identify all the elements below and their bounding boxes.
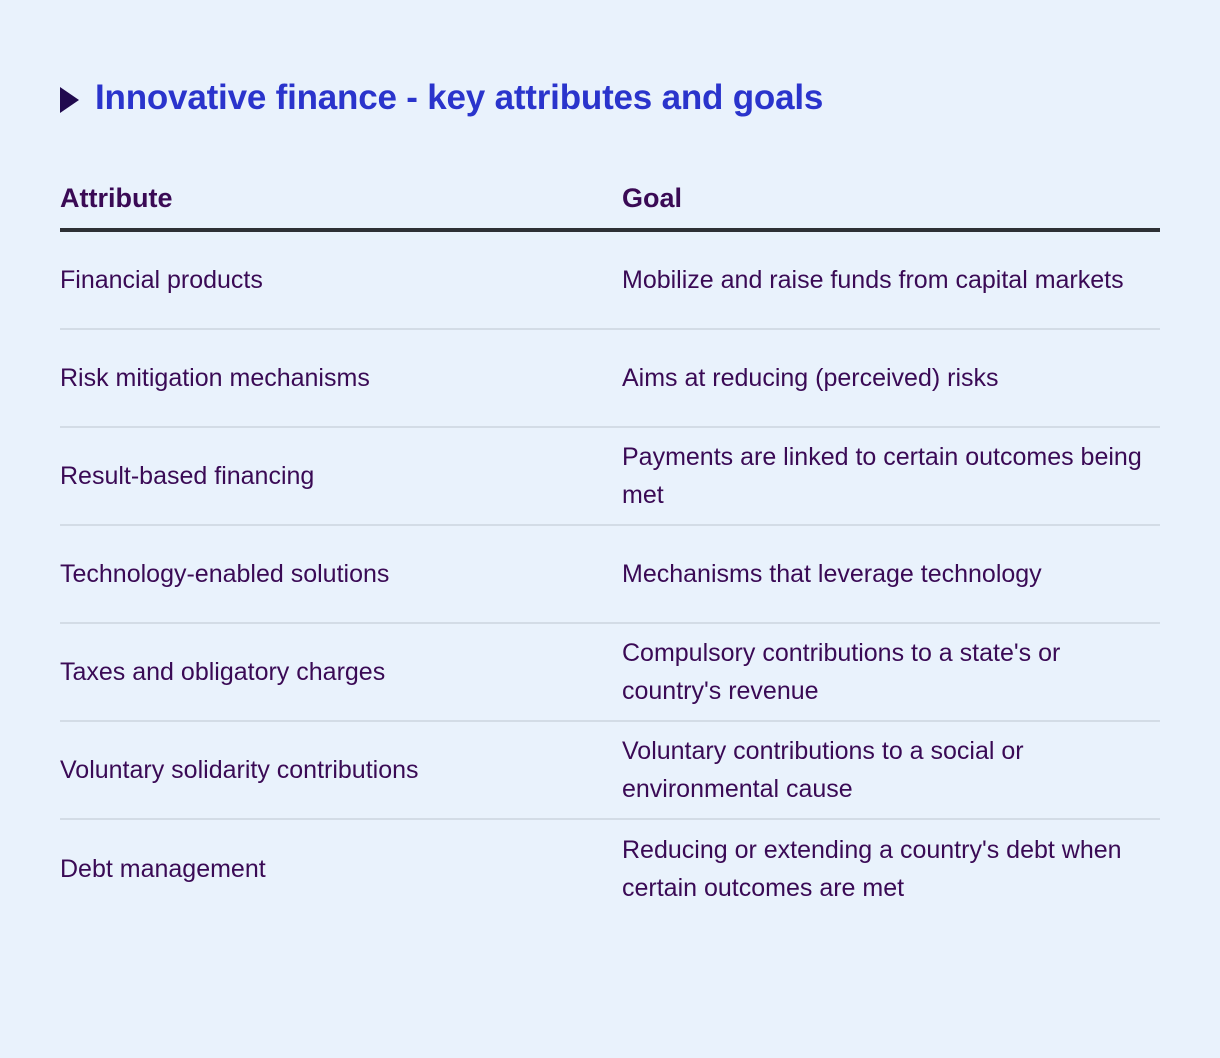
table-row: Financial products Mobilize and raise fu… [60,232,1160,330]
table-row: Risk mitigation mechanisms Aims at reduc… [60,330,1160,428]
table-row: Taxes and obligatory charges Compulsory … [60,624,1160,722]
cell-attribute: Taxes and obligatory charges [60,653,622,692]
triangle-right-icon [60,87,79,113]
cell-goal: Voluntary contributions to a social or e… [622,732,1160,810]
attributes-goals-table: Attribute Goal Financial products Mobili… [60,182,1160,918]
column-header-goal: Goal [622,182,1160,214]
cell-goal: Compulsory contributions to a state's or… [622,634,1160,712]
cell-attribute: Result-based financing [60,457,622,496]
column-header-attribute: Attribute [60,182,622,214]
page-header: Innovative finance - key attributes and … [60,56,823,141]
table-header-row: Attribute Goal [60,182,1160,228]
cell-attribute: Debt management [60,850,622,889]
cell-goal: Aims at reducing (perceived) risks [622,359,1160,398]
table-row: Technology-enabled solutions Mechanisms … [60,526,1160,624]
cell-goal: Mobilize and raise funds from capital ma… [622,261,1160,300]
table-row: Voluntary solidarity contributions Volun… [60,722,1160,820]
cell-goal: Mechanisms that leverage technology [622,555,1160,594]
page-title: Innovative finance - key attributes and … [95,79,823,118]
table-row: Debt management Reducing or extending a … [60,820,1160,918]
cell-attribute: Technology-enabled solutions [60,555,622,594]
table-row: Result-based financing Payments are link… [60,428,1160,526]
cell-goal: Payments are linked to certain outcomes … [622,438,1160,516]
cell-attribute: Risk mitigation mechanisms [60,359,622,398]
cell-attribute: Voluntary solidarity contributions [60,751,622,790]
page-root: Innovative finance - key attributes and … [0,0,1220,1058]
cell-attribute: Financial products [60,261,622,300]
cell-goal: Reducing or extending a country's debt w… [622,831,1160,909]
